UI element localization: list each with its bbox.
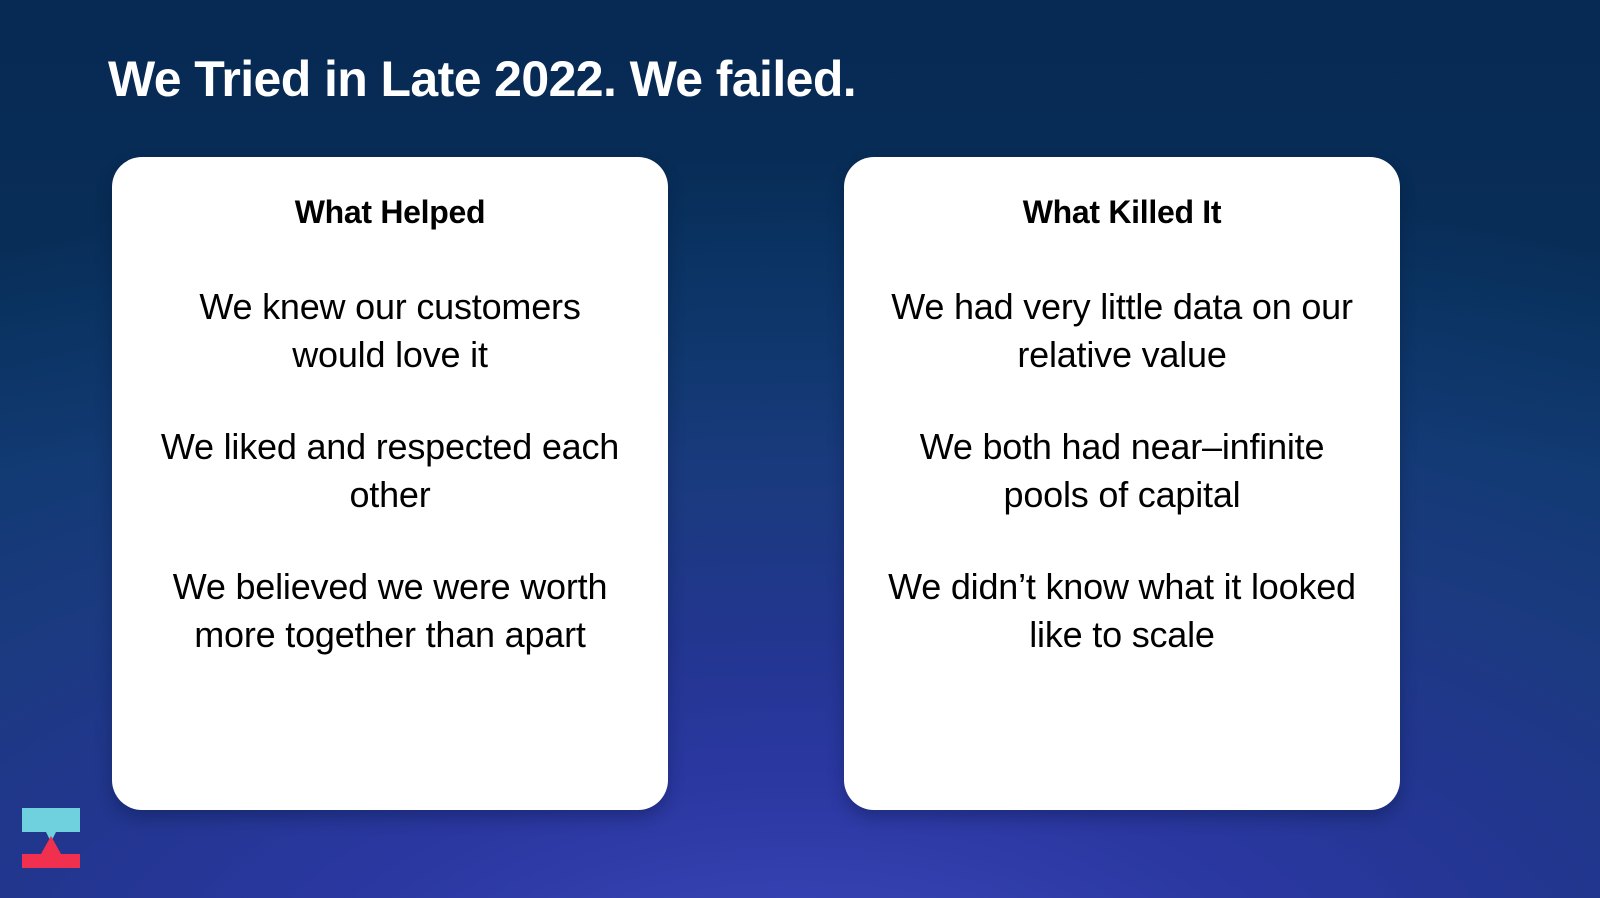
card-what-killed-it: What Killed It We had very little data o… — [844, 157, 1400, 810]
card-paragraph: We liked and respected each other — [138, 423, 642, 519]
hourglass-logo-icon — [22, 806, 80, 868]
card-heading: What Helped — [138, 193, 642, 231]
logo-bottom-shape — [22, 836, 80, 868]
card-body: We knew our customers would love it We l… — [138, 283, 642, 659]
card-paragraph: We had very little data on our relative … — [870, 283, 1374, 379]
card-heading: What Killed It — [870, 193, 1374, 231]
slide-canvas: We Tried in Late 2022. We failed. What H… — [0, 0, 1600, 898]
card-paragraph: We both had near–infinite pools of capit… — [870, 423, 1374, 519]
card-paragraph: We knew our customers would love it — [138, 283, 642, 379]
card-row: What Helped We knew our customers would … — [0, 157, 1600, 811]
card-paragraph: We didn’t know what it looked like to sc… — [870, 563, 1374, 659]
page-title: We Tried in Late 2022. We failed. — [108, 50, 856, 109]
card-what-helped: What Helped We knew our customers would … — [112, 157, 668, 810]
card-paragraph: We believed we were worth more together … — [138, 563, 642, 659]
card-body: We had very little data on our relative … — [870, 283, 1374, 659]
